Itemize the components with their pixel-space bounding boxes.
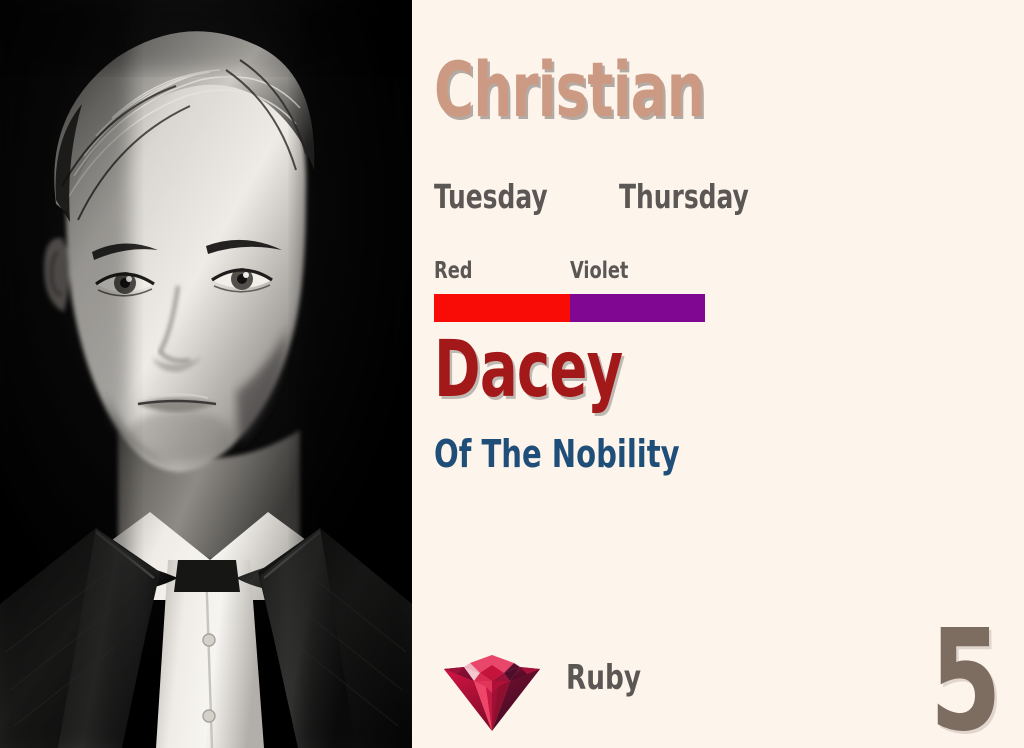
color-swatch-bar: [434, 294, 705, 322]
day-label-1: Tuesday: [434, 178, 548, 216]
rank-number: 5: [930, 612, 1002, 748]
gem-label: Ruby: [566, 658, 641, 698]
tagline: Of The Nobility: [434, 432, 680, 476]
character-card: Christian Tuesday Thursday Red Violet Da…: [0, 0, 1024, 748]
color-swatch-red: [434, 294, 570, 322]
color-swatch-violet: [570, 294, 705, 322]
day-label-2: Thursday: [619, 178, 749, 216]
page-title: Christian: [434, 52, 705, 128]
color-label-1: Red: [434, 258, 473, 284]
portrait-photo: [0, 0, 412, 748]
color-label-2: Violet: [570, 258, 628, 284]
portrait-photo-image: [0, 0, 412, 748]
house-name: Dacey: [434, 331, 622, 409]
gem-icon: [442, 635, 542, 733]
